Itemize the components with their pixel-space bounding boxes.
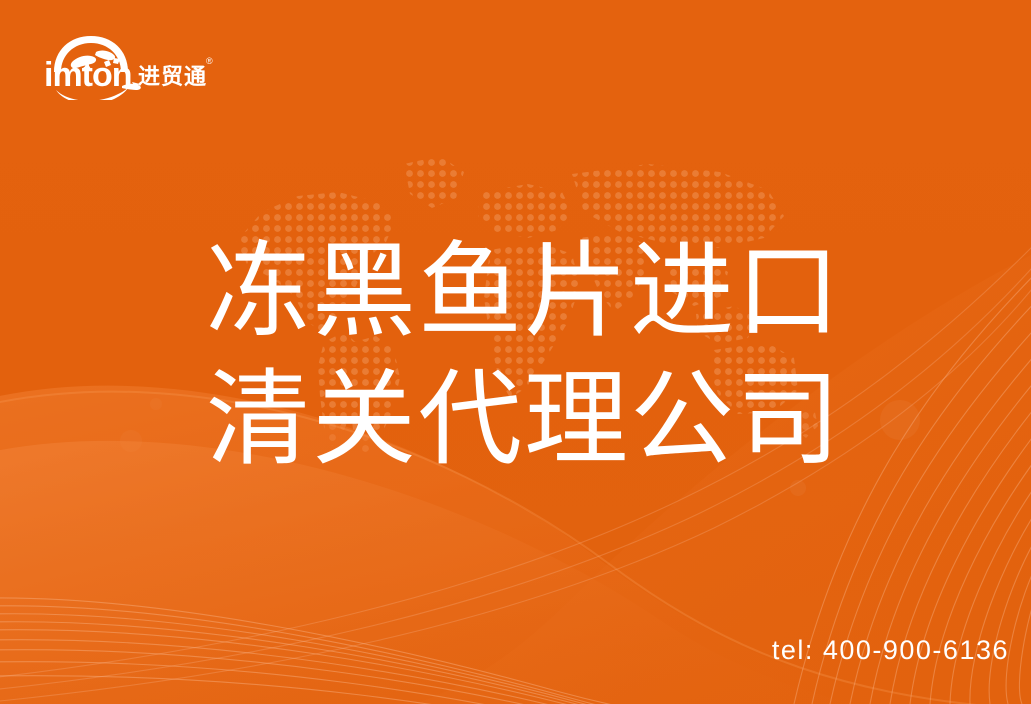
promo-banner: imton 进贸通 ® 冻黑鱼片进口 清关代理公司 tel: 400-900-6…: [0, 0, 1031, 704]
logo-cjk-text: 进贸通: [138, 64, 207, 89]
contact-phone[interactable]: tel: 400-900-6136: [772, 635, 1009, 666]
headline-line-2: 清关代理公司: [206, 356, 846, 484]
brand-logo[interactable]: imton 进贸通 ®: [36, 28, 216, 100]
page-title: 冻黑鱼片进口 清关代理公司: [206, 228, 846, 484]
headline-line-1: 冻黑鱼片进口: [206, 228, 846, 356]
logo-latin-text: imton: [44, 56, 132, 94]
trademark-icon: ®: [206, 56, 213, 66]
